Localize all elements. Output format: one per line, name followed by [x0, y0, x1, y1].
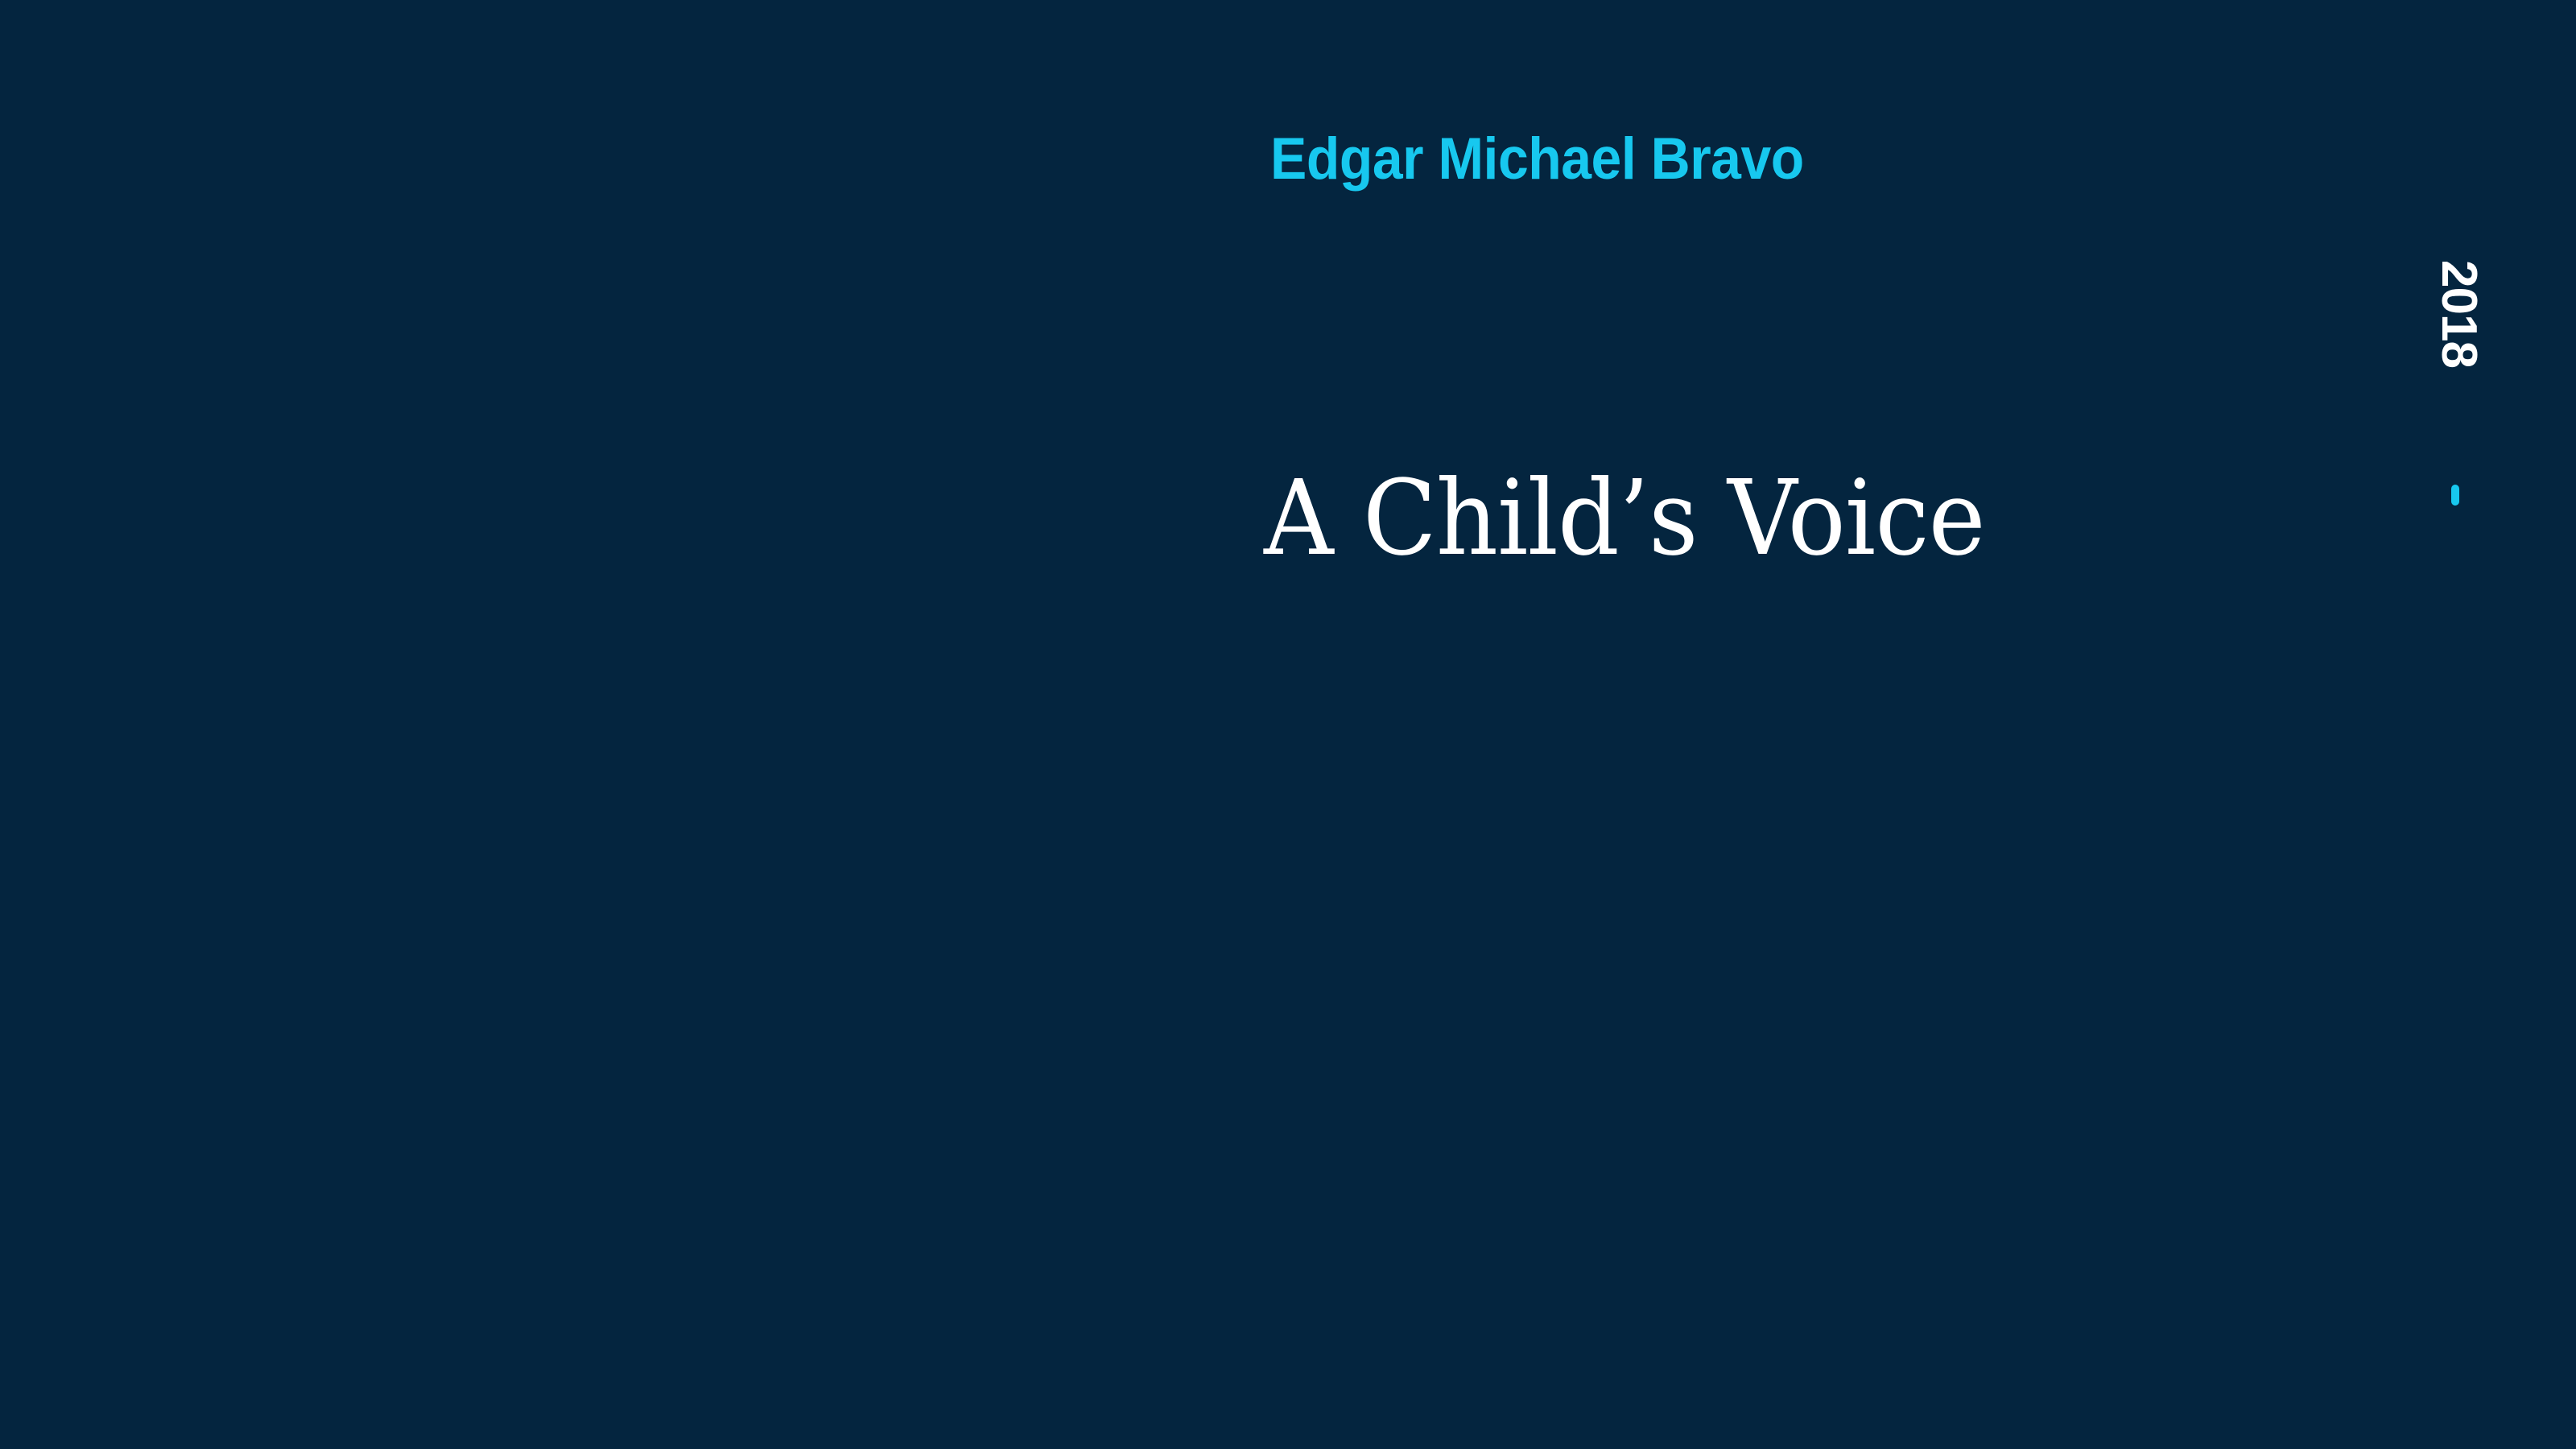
year-rail: 2018 [2436, 233, 2481, 394]
title-card-slide: Edgar Michael Bravo A Child’s Voice 2018 [0, 0, 2576, 1449]
year-label: 2018 [2434, 260, 2483, 368]
author-name: Edgar Michael Bravo [1270, 130, 1804, 188]
page-title: A Child’s Voice [1264, 467, 1985, 571]
accent-dash-icon [2451, 485, 2459, 506]
